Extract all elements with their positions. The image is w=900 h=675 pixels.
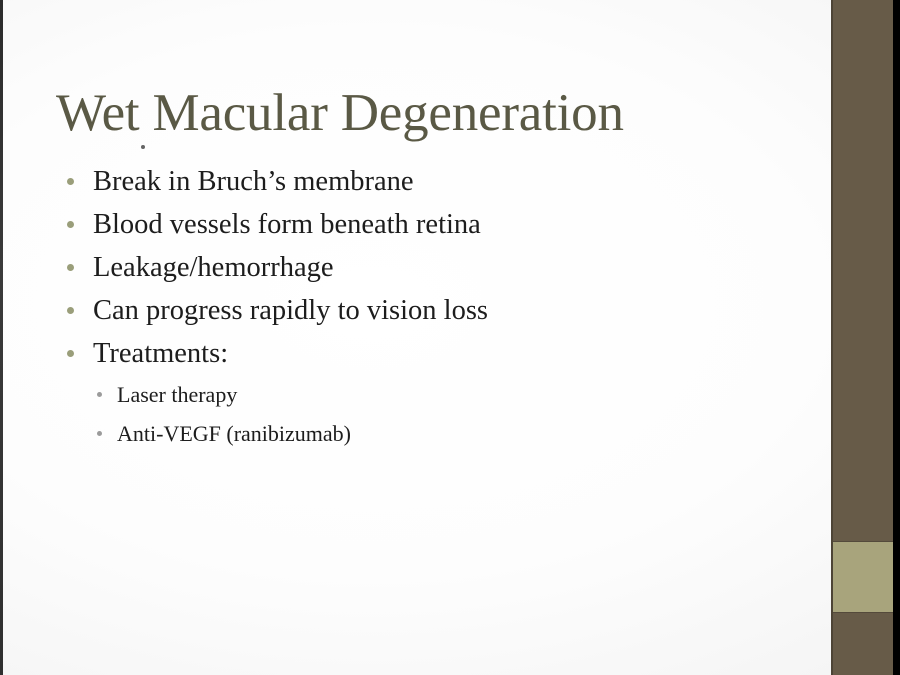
sub-list-item-label: Laser therapy	[117, 382, 237, 407]
list-item-label: Blood vessels form beneath retina	[93, 209, 481, 240]
slide-title: Wet Macular Degeneration	[56, 86, 796, 142]
list-item-label: Break in Bruch’s membrane	[93, 166, 414, 197]
decorative-band-accent-block	[833, 542, 893, 612]
sub-list-item: Laser therapy	[60, 375, 780, 414]
stray-dot-mark	[141, 145, 145, 149]
slide: Wet Macular Degeneration Break in Bruch’…	[0, 0, 900, 675]
list-item: Break in Bruch’s membrane	[60, 160, 780, 203]
bullet-dot-icon	[67, 264, 74, 271]
bullet-dot-icon	[67, 307, 74, 314]
list-item: Leakage/hemorrhage	[60, 246, 780, 289]
list-item: Can progress rapidly to vision loss	[60, 289, 780, 332]
bullet-dot-icon	[67, 178, 74, 185]
slide-bullet-list: Break in Bruch’s membrane Blood vessels …	[60, 160, 780, 453]
list-item-label: Leakage/hemorrhage	[93, 252, 334, 283]
slide-left-border	[0, 0, 3, 675]
slide-right-edge	[893, 0, 900, 675]
sub-list-item: Anti-VEGF (ranibizumab)	[60, 414, 780, 453]
sub-bullet-dot-icon	[97, 392, 102, 397]
sub-bullet-dot-icon	[97, 431, 102, 436]
list-item: Treatments:	[60, 332, 780, 375]
list-item: Blood vessels form beneath retina	[60, 203, 780, 246]
list-item-label: Can progress rapidly to vision loss	[93, 295, 488, 326]
bullet-dot-icon	[67, 221, 74, 228]
list-item-label: Treatments:	[93, 338, 228, 369]
bullet-dot-icon	[67, 350, 74, 357]
sub-list-item-label: Anti-VEGF (ranibizumab)	[117, 421, 351, 446]
